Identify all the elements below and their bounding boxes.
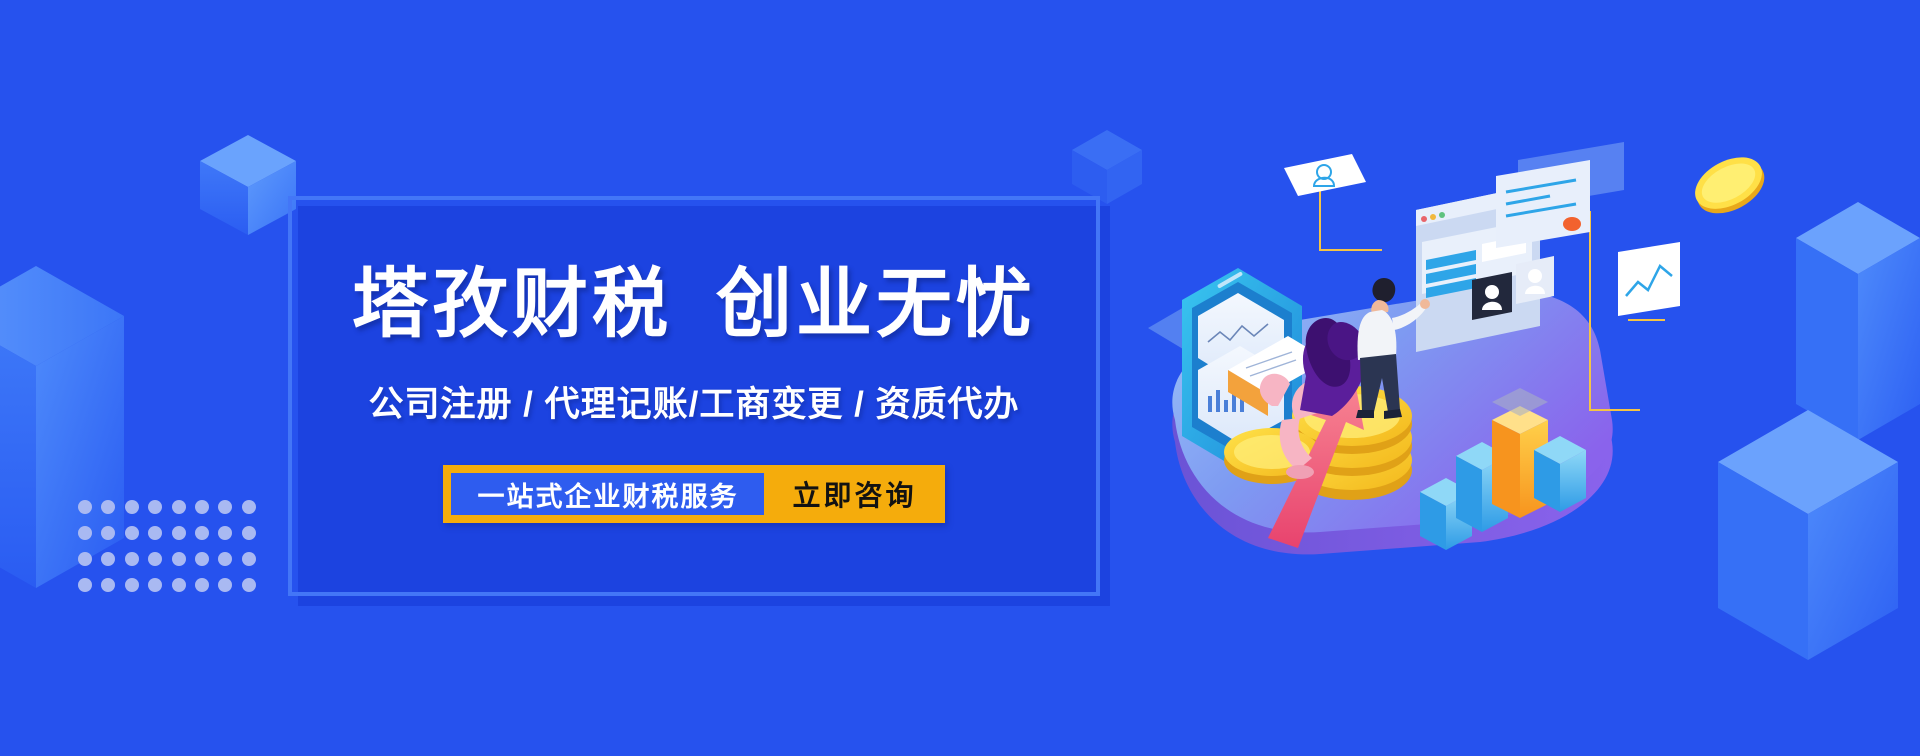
page-title: 塔孜财税 创业无忧 (352, 263, 1036, 347)
profile-icon-card (1284, 154, 1366, 196)
cta-tagline: 一站式企业财税服务 (451, 473, 764, 515)
headline-part-2: 创业无忧 (716, 263, 1036, 347)
headline-part-1: 塔孜财税 (352, 263, 672, 347)
gold-coin-right-icon (1687, 145, 1771, 223)
isometric-business-illustration (1120, 120, 1680, 590)
cta-bar[interactable]: 一站式企业财税服务 立即咨询 (443, 465, 944, 523)
credit-card (1496, 142, 1624, 248)
iso-cube-top-left-icon (198, 133, 298, 237)
line-chart-card (1618, 242, 1680, 316)
promo-banner: 塔孜财税 创业无忧 公司注册 / 代理记账/工商变更 / 资质代办 一站式企业财… (0, 0, 1920, 756)
dot-grid-decoration (78, 500, 265, 604)
services-subtitle: 公司注册 / 代理记账/工商变更 / 资质代办 (368, 376, 1019, 427)
banner-copy: 塔孜财税 创业无忧 公司注册 / 代理记账/工商变更 / 资质代办 一站式企业财… (288, 196, 1100, 596)
iso-cube-right-lower-icon (1718, 400, 1898, 660)
consult-now-button[interactable]: 立即咨询 (764, 465, 944, 523)
